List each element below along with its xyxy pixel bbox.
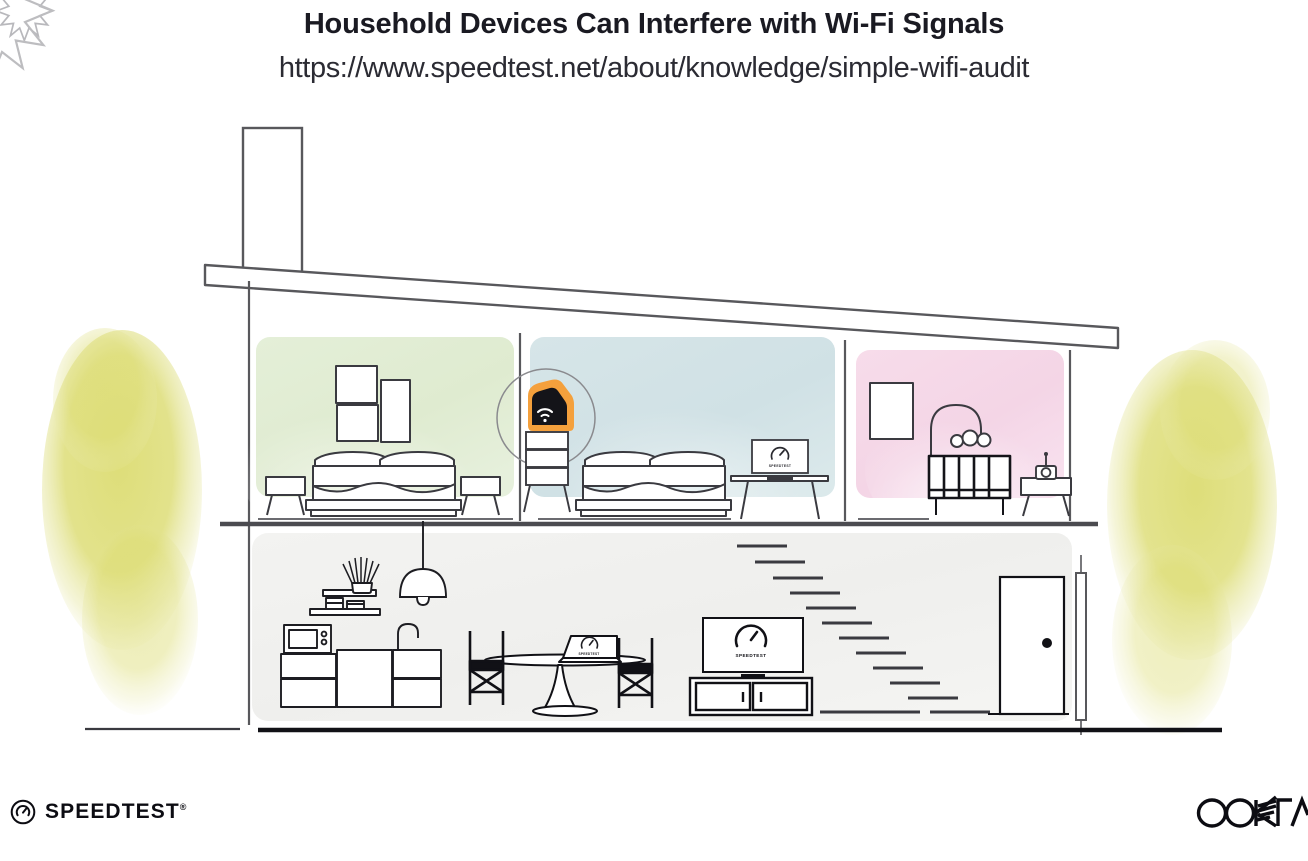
microwave bbox=[284, 625, 331, 653]
side-window bbox=[1076, 555, 1086, 735]
wall-frame-square-bottom bbox=[337, 405, 378, 441]
ookla-wordmark bbox=[1196, 795, 1308, 829]
bed-middle bbox=[576, 452, 731, 516]
speedtest-wordmark: SPEEDTEST® bbox=[45, 800, 188, 824]
shelf-unit bbox=[524, 432, 570, 512]
infographic-canvas: Household Devices Can Interfere with Wi-… bbox=[0, 0, 1308, 861]
ookla-logo bbox=[1196, 795, 1308, 829]
media-console bbox=[690, 678, 812, 715]
bush-left bbox=[42, 328, 202, 715]
bed-left bbox=[306, 452, 461, 516]
front-door[interactable] bbox=[988, 577, 1069, 714]
kitchen-counter bbox=[281, 650, 441, 707]
house-illustration: SPEEDTEST bbox=[0, 0, 1308, 861]
bush-right bbox=[1107, 340, 1277, 735]
nursery-wall-frame bbox=[870, 383, 913, 439]
speedometer-gauge-icon bbox=[10, 799, 36, 825]
speedtest-logo: SPEEDTEST® bbox=[10, 799, 188, 825]
svg-text:SPEEDTEST: SPEEDTEST bbox=[579, 652, 600, 656]
wall-frame-tall bbox=[381, 380, 410, 442]
microwave-interference bbox=[0, 0, 53, 80]
wall-frame-square-top bbox=[336, 366, 377, 403]
nightstand-right bbox=[461, 477, 500, 515]
ookla-k-mark-icon bbox=[1256, 797, 1276, 826]
television: SPEEDTEST bbox=[703, 618, 803, 677]
svg-text:SPEEDTEST: SPEEDTEST bbox=[769, 464, 792, 468]
chimney bbox=[243, 128, 302, 280]
roof-slab bbox=[205, 265, 1118, 348]
svg-text:SPEEDTEST: SPEEDTEST bbox=[736, 653, 767, 658]
speedtest-trademark: ® bbox=[180, 802, 188, 812]
